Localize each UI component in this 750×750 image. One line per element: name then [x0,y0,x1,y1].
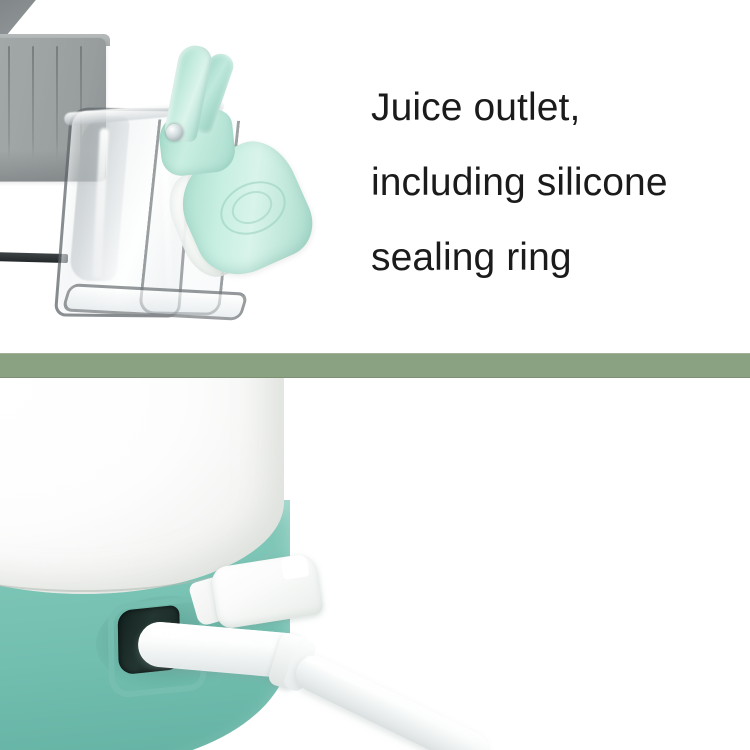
panel-juice-outlet: Juice outlet, including silicone sealing… [0,0,750,353]
usb-charging-photo [0,378,430,750]
juice-outlet-caption: Juice outlet, including silicone sealing… [371,70,741,295]
juice-outlet-photo [0,0,350,353]
product-feature-image: Juice outlet, including silicone sealing… [0,0,750,750]
port-cover-notch [280,554,309,580]
green-separator-band [0,353,750,378]
metal-pivot-pin [166,124,183,141]
panel-usb-charging: USB charging [0,378,750,750]
